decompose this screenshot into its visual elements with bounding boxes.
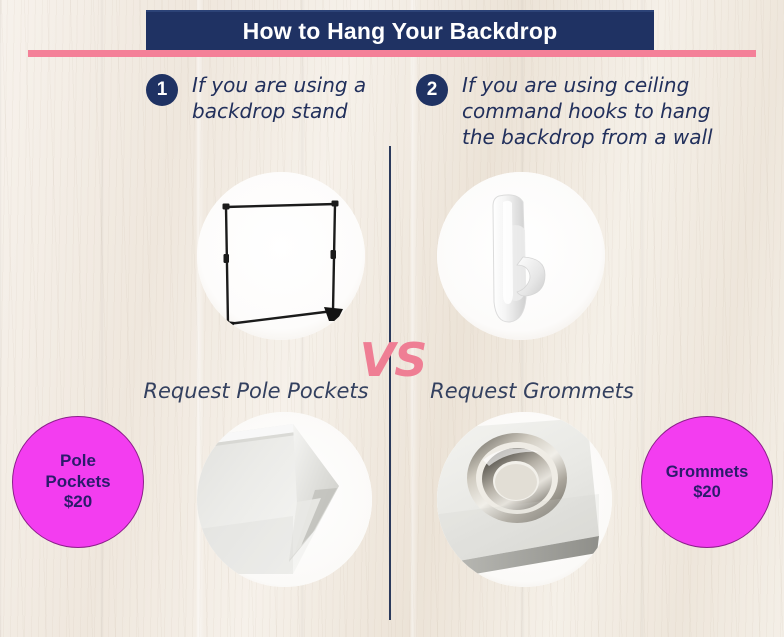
step-2-heading: 2 If you are using ceiling command hooks… [416,72,736,150]
price-bubble-right-price: $20 [693,482,721,502]
page-title: How to Hang Your Backdrop [243,18,558,45]
step-1-number-badge: 1 [146,74,178,106]
header-accent-rule [28,50,756,57]
page-title-banner: How to Hang Your Backdrop [146,10,654,50]
pole-pocket-fabric-photo [197,412,372,587]
price-bubble-grommets: Grommets $20 [641,416,773,548]
caption-grommets: Request Grommets [425,379,639,403]
price-bubble-left-price: $20 [64,492,92,513]
infographic-canvas: How to Hang Your Backdrop 1 If you are u… [0,0,784,637]
step-2-number-badge: 2 [416,74,448,106]
price-bubble-left-label: Pole Pockets [45,451,110,492]
step-2-text: If you are using ceiling command hooks t… [462,72,713,150]
step-1-text: If you are using a backdrop stand [192,72,366,124]
caption-pole-pockets: Request Pole Pockets [140,379,372,403]
price-bubble-pole-pockets: Pole Pockets $20 [12,416,144,548]
grommet-fabric-photo [437,412,612,587]
backdrop-stand-photo [197,172,365,340]
command-hook-photo [437,172,605,340]
step-1-heading: 1 If you are using a backdrop stand [146,72,386,124]
price-bubble-right-label: Grommets [666,462,749,482]
